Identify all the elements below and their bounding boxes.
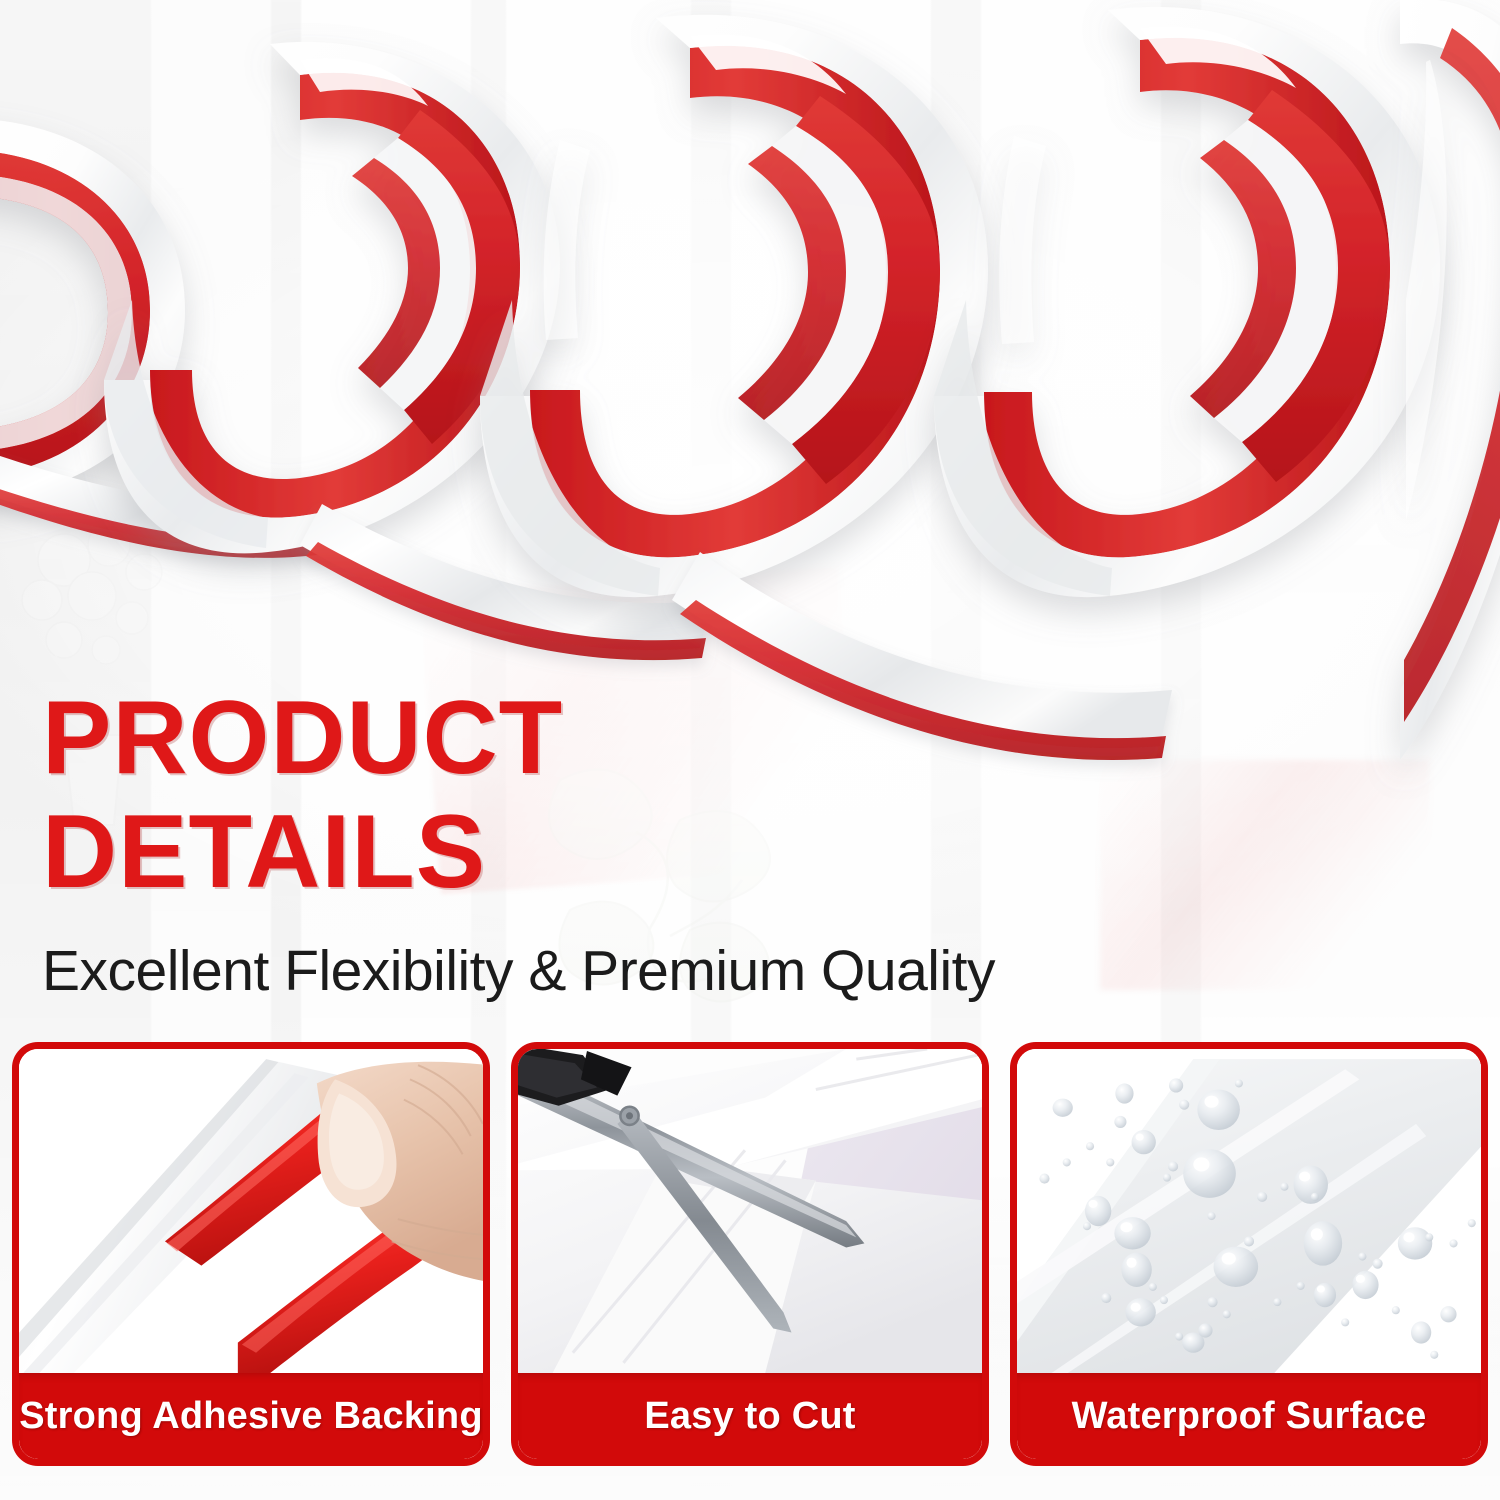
- headline-block: PRODUCT DETAILS Excellent Flexibility & …: [42, 686, 1192, 1002]
- feature-panel-easy-to-cut[interactable]: Easy to Cut: [511, 1042, 989, 1466]
- caption-easy-to-cut: Easy to Cut: [518, 1373, 982, 1459]
- feature-panel-row: Strong Adhesive Backing: [12, 1042, 1488, 1466]
- caption-waterproof: Waterproof Surface: [1017, 1373, 1481, 1459]
- caption-adhesive-label: Strong Adhesive Backing: [19, 1395, 483, 1438]
- caption-waterproof-label: Waterproof Surface: [1072, 1395, 1427, 1438]
- page-subtitle: Excellent Flexibility & Premium Quality: [42, 940, 1192, 1002]
- feature-panel-adhesive[interactable]: Strong Adhesive Backing: [12, 1042, 490, 1466]
- photo-scissors-cutting-tape: [518, 1049, 982, 1373]
- feature-panel-waterproof[interactable]: Waterproof Surface: [1010, 1042, 1488, 1466]
- caption-easy-to-cut-label: Easy to Cut: [644, 1395, 855, 1438]
- product-detail-image: PRODUCT DETAILS Excellent Flexibility & …: [0, 0, 1500, 1500]
- page-title-line-1: PRODUCT: [42, 686, 1192, 790]
- photo-hand-peeling-liner: [19, 1049, 483, 1373]
- photo-water-droplets: [1017, 1049, 1481, 1373]
- caption-adhesive: Strong Adhesive Backing: [19, 1373, 483, 1459]
- page-title-line-2: DETAILS: [42, 800, 1192, 904]
